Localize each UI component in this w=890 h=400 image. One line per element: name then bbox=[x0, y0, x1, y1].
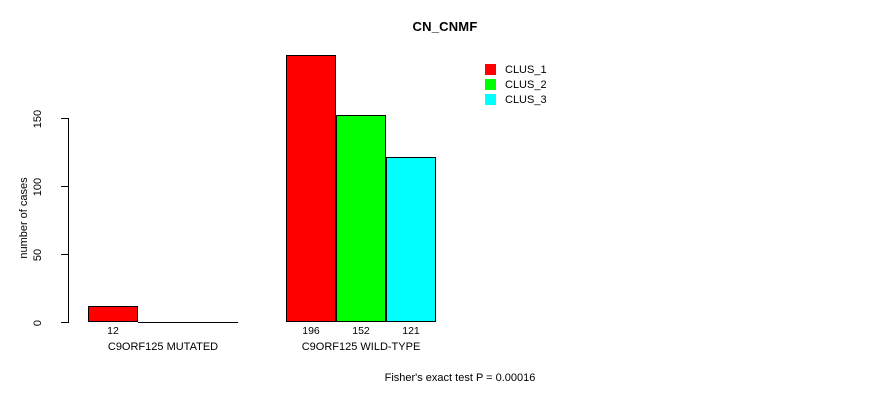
group-label-mutated: C9ORF125 MUTATED bbox=[88, 341, 238, 353]
bar-value-label: 12 bbox=[88, 325, 138, 337]
bar-wildtype-clus2[interactable] bbox=[336, 115, 386, 322]
legend-swatch-icon bbox=[485, 64, 496, 75]
bar-value-label: 121 bbox=[386, 325, 436, 337]
legend-item-clus3[interactable]: CLUS_3 bbox=[485, 92, 547, 107]
legend-item-clus1[interactable]: CLUS_1 bbox=[485, 62, 547, 77]
legend-swatch-icon bbox=[485, 94, 496, 105]
bar-mutated-clus2[interactable] bbox=[138, 322, 188, 323]
legend-item-label: CLUS_3 bbox=[505, 94, 547, 106]
bar-value-label: 196 bbox=[286, 325, 336, 337]
legend-item-label: CLUS_1 bbox=[505, 64, 547, 76]
legend: CLUS_1 CLUS_2 CLUS_3 bbox=[485, 62, 547, 107]
bar-wildtype-clus3[interactable] bbox=[386, 157, 436, 322]
bar-mutated-clus3[interactable] bbox=[188, 322, 238, 323]
legend-item-clus2[interactable]: CLUS_2 bbox=[485, 77, 547, 92]
barplot-figure: CN_CNMF number of cases 150 100 50 0 12 … bbox=[0, 0, 890, 400]
group-label-wildtype: C9ORF125 WILD-TYPE bbox=[286, 341, 436, 353]
legend-swatch-icon bbox=[485, 79, 496, 90]
bars-layer: 12 C9ORF125 MUTATED 196 152 121 C9ORF125… bbox=[0, 0, 890, 400]
bar-wildtype-clus1[interactable] bbox=[286, 55, 336, 322]
statistical-test-annotation: Fisher's exact test P = 0.00016 bbox=[0, 372, 890, 384]
bar-value-label: 152 bbox=[336, 325, 386, 337]
legend-item-label: CLUS_2 bbox=[505, 79, 547, 91]
bar-mutated-clus1[interactable] bbox=[88, 306, 138, 322]
